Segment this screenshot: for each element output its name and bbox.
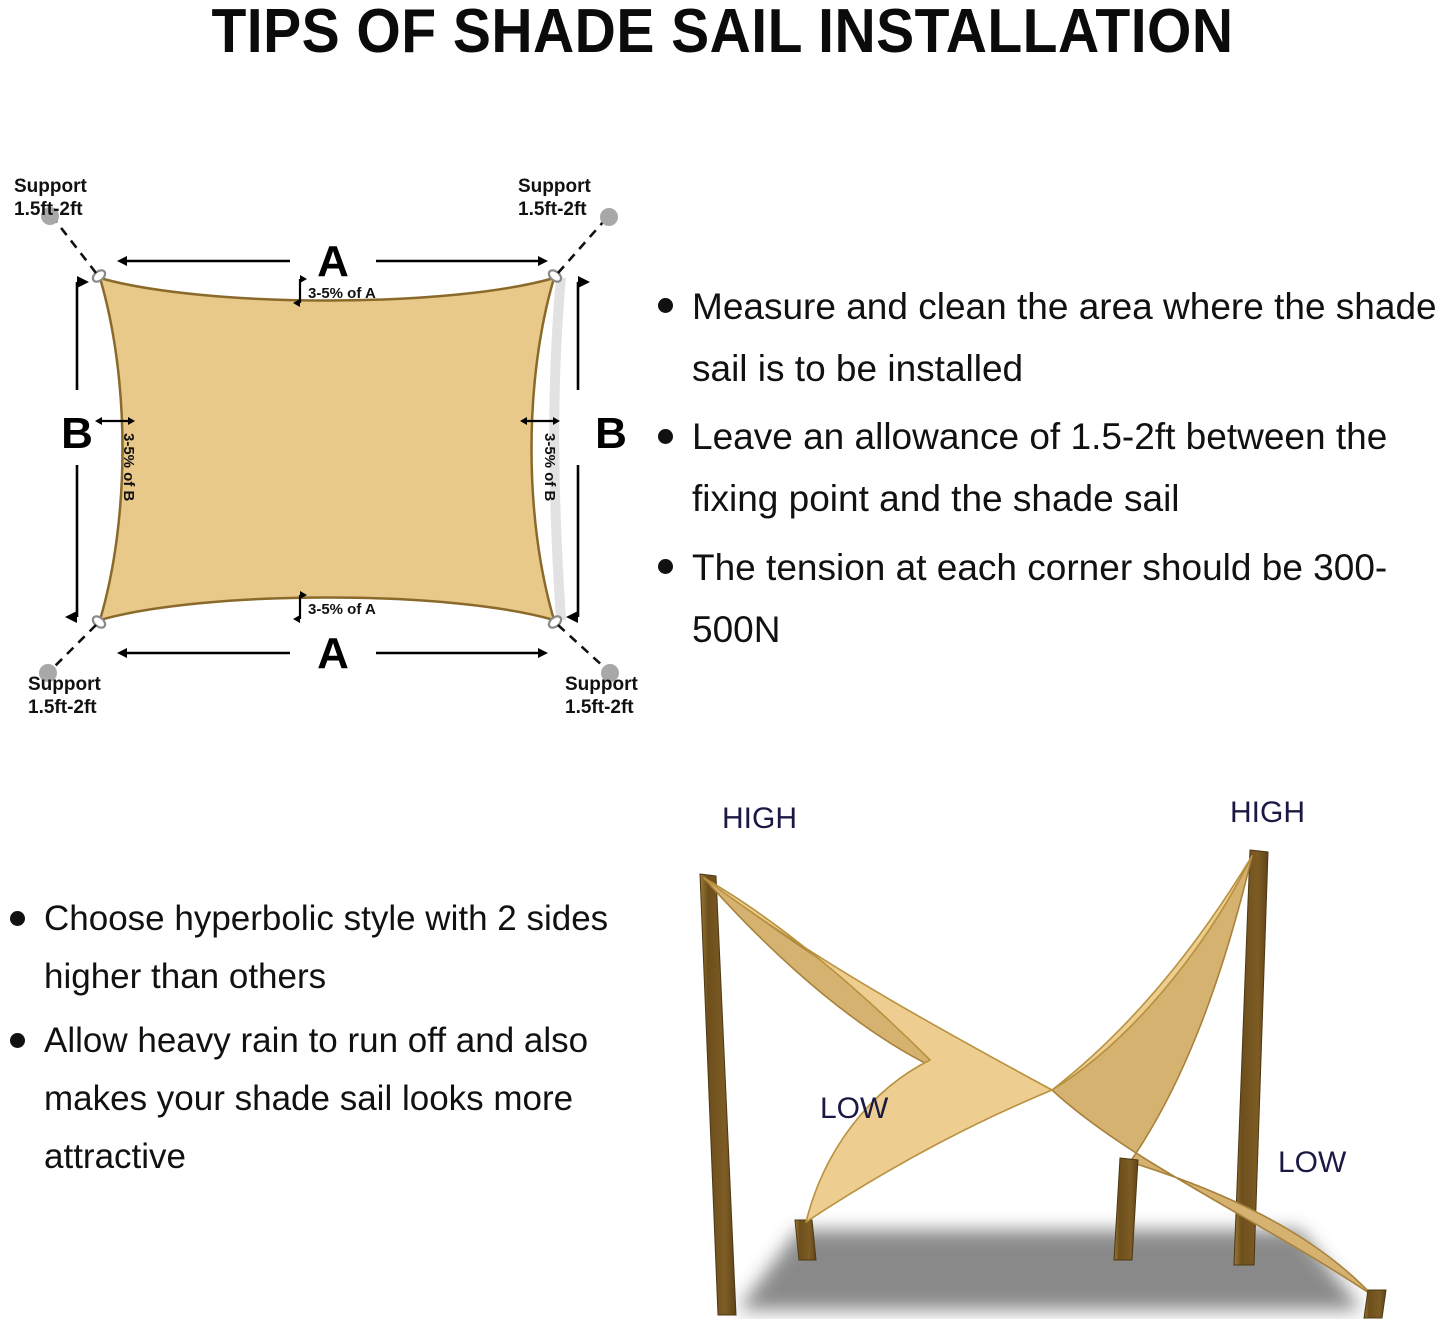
post-left-high: [700, 874, 736, 1315]
ground-shadow: [738, 1230, 1362, 1310]
support-label-top-left-line1: Support: [14, 176, 87, 197]
hyperbolic-sail-illustration: HIGH HIGH LOW LOW: [660, 790, 1445, 1319]
list-item: The tension at each corner should be 300…: [648, 537, 1445, 661]
infographic-page: TIPS OF SHADE SAIL INSTALLATION: [0, 0, 1445, 1319]
curvature-label-right: 3-5% of B: [541, 433, 558, 502]
post-left-low-stub: [795, 1220, 816, 1260]
curvature-label-left: 3-5% of B: [120, 433, 137, 502]
label-high-left: HIGH: [722, 802, 797, 835]
list-item: Choose hyperbolic style with 2 sides hig…: [0, 890, 625, 1006]
support-label-bottom-right-line2: 1.5ft-2ft: [565, 697, 634, 718]
list-item: Allow heavy rain to run off and also mak…: [0, 1012, 625, 1186]
installation-tips-list-bottom: Choose hyperbolic style with 2 sides hig…: [0, 890, 625, 1192]
dimension-label-b-left: B: [61, 409, 93, 458]
page-title: TIPS OF SHADE SAIL INSTALLATION: [58, 0, 1387, 67]
support-line-bottom-right: [558, 625, 605, 668]
support-line-top-right: [558, 221, 604, 273]
rectangular-sail-dimension-diagram: A A B B 3-5% of A 3-5% of A 3-5% of B: [0, 165, 660, 725]
dimension-label-b-right: B: [595, 409, 627, 458]
shade-sail-shape: [100, 278, 554, 620]
support-label-bottom-right-line1: Support: [565, 674, 638, 695]
dimension-label-a-top: A: [317, 237, 349, 286]
support-line-bottom-left: [53, 625, 96, 668]
curvature-label-top: 3-5% of A: [308, 285, 376, 302]
anchor-dot-top-right: [600, 208, 618, 226]
support-label-bottom-left-line1: Support: [28, 674, 101, 695]
post-right-low: [1364, 1290, 1386, 1318]
installation-tips-list-top: Measure and clean the area where the sha…: [648, 276, 1445, 667]
support-line-top-left: [55, 220, 96, 273]
support-label-top-left-line2: 1.5ft-2ft: [14, 199, 83, 220]
support-label-top-right-line1: Support: [518, 176, 591, 197]
label-high-right: HIGH: [1230, 796, 1305, 829]
list-item: Measure and clean the area where the sha…: [648, 276, 1445, 400]
label-low-right: LOW: [1278, 1146, 1347, 1179]
support-label-bottom-left-line2: 1.5ft-2ft: [28, 697, 97, 718]
list-item: Leave an allowance of 1.5-2ft between th…: [648, 406, 1445, 530]
support-label-top-right-line2: 1.5ft-2ft: [518, 199, 587, 220]
curvature-label-bottom: 3-5% of A: [308, 601, 376, 618]
label-low-left: LOW: [820, 1092, 889, 1125]
dimension-label-a-bottom: A: [317, 629, 349, 678]
